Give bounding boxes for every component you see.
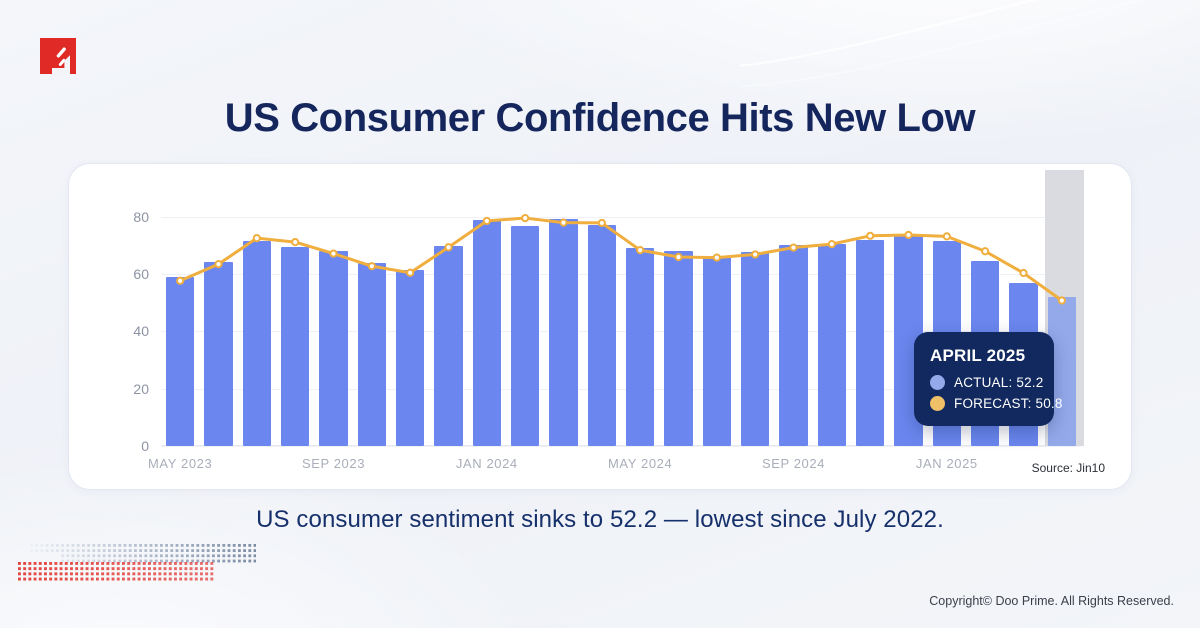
forecast-line-marker	[254, 235, 260, 241]
tooltip-actual-label: ACTUAL: 52.2	[954, 375, 1043, 390]
forecast-line-marker	[445, 244, 451, 250]
page-title: US Consumer Confidence Hits New Low	[0, 96, 1200, 141]
y-axis-tick-label: 40	[133, 323, 149, 339]
actual-series-dot-icon	[930, 375, 945, 390]
y-axis-tick-label: 0	[141, 438, 149, 454]
forecast-line-marker	[292, 239, 298, 245]
x-axis-tick-label: MAY 2023	[148, 456, 212, 471]
x-axis-tick-label: MAY 2024	[608, 456, 672, 471]
forecast-line-marker	[905, 232, 911, 238]
forecast-line-marker	[675, 254, 681, 260]
tooltip-forecast-label: FORECAST: 50.8	[954, 396, 1063, 411]
forecast-line-marker	[369, 263, 375, 269]
doo-prime-logo-icon	[40, 38, 76, 74]
forecast-line-marker	[522, 215, 528, 221]
forecast-line-marker	[637, 247, 643, 253]
x-axis-tick-label: SEP 2024	[762, 456, 825, 471]
forecast-line-marker	[867, 233, 873, 239]
forecast-line-marker	[829, 241, 835, 247]
tooltip-title: APRIL 2025	[930, 346, 1038, 366]
forecast-line-marker	[177, 278, 183, 284]
forecast-line-marker	[1059, 297, 1065, 303]
forecast-line-marker	[752, 251, 758, 257]
chart-tooltip: APRIL 2025 ACTUAL: 52.2 FORECAST: 50.8	[914, 332, 1054, 426]
x-axis-tick-label: JAN 2024	[456, 456, 518, 471]
y-axis-tick-label: 80	[133, 209, 149, 225]
chart-gridline	[161, 446, 1081, 447]
forecast-line-marker	[407, 270, 413, 276]
forecast-line-marker	[215, 261, 221, 267]
forecast-line-marker	[982, 248, 988, 254]
x-axis-tick-label: SEP 2023	[302, 456, 365, 471]
forecast-line-marker	[714, 254, 720, 260]
chart-subtitle: US consumer sentiment sinks to 52.2 — lo…	[0, 506, 1200, 534]
forecast-line-marker	[1020, 270, 1026, 276]
dot-pattern-decoration	[16, 542, 256, 586]
tooltip-forecast-row: FORECAST: 50.8	[930, 396, 1038, 411]
forecast-line-marker	[944, 233, 950, 239]
y-axis-tick-label: 20	[133, 381, 149, 397]
chart-source-label: Source: Jin10	[1032, 461, 1105, 475]
tooltip-actual-row: ACTUAL: 52.2	[930, 375, 1038, 390]
y-axis-tick-label: 60	[133, 266, 149, 282]
copyright-text: Copyright© Doo Prime. All Rights Reserve…	[929, 594, 1174, 608]
forecast-series-dot-icon	[930, 396, 945, 411]
forecast-line-path	[180, 218, 1062, 300]
forecast-line-marker	[790, 244, 796, 250]
forecast-line-marker	[330, 250, 336, 256]
forecast-line-marker	[484, 218, 490, 224]
x-axis-tick-label: JAN 2025	[916, 456, 978, 471]
chart-card: 020406080MAY 2023SEP 2023JAN 2024MAY 202…	[68, 163, 1132, 490]
forecast-line-marker	[599, 220, 605, 226]
forecast-line-marker	[560, 220, 566, 226]
